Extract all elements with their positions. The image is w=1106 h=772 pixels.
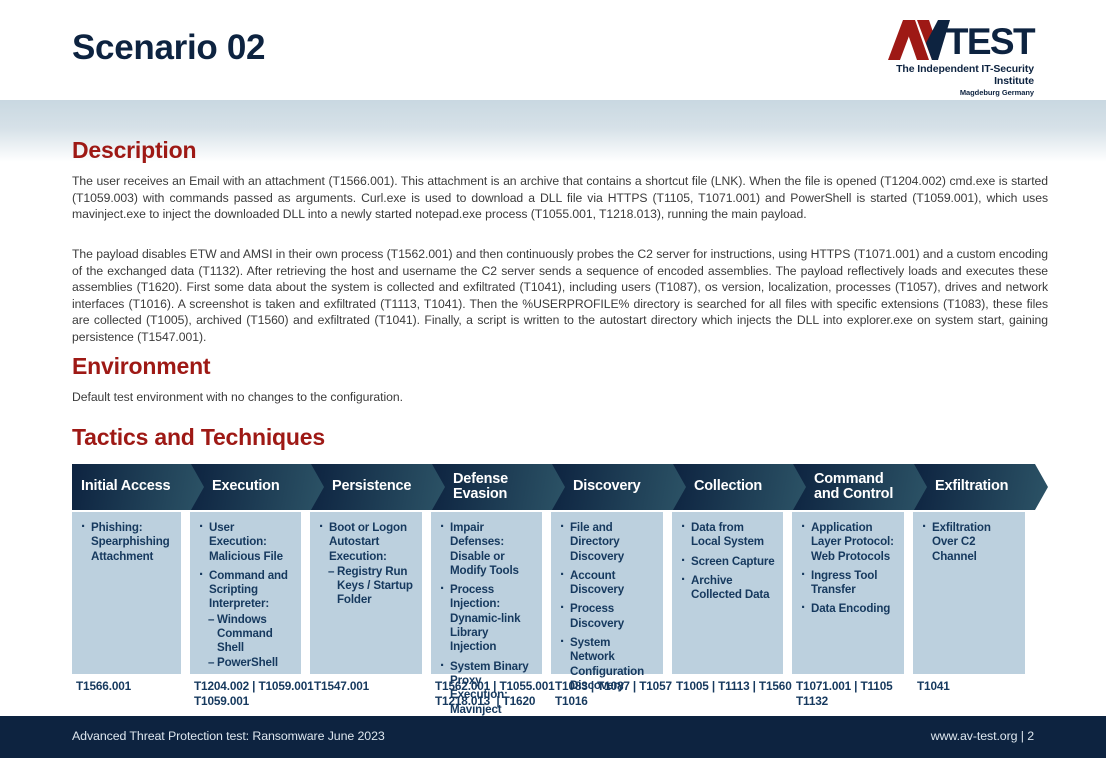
technique-id-line: T1016 (555, 694, 680, 709)
technique-ids-initial-access: T1566.001 (72, 679, 198, 694)
technique-list: Data from Local SystemScreen CaptureArch… (680, 521, 775, 602)
technique-item: Phishing: Spearphishing Attachment (80, 521, 173, 564)
technique-id-line: T1566.001 (76, 679, 198, 694)
environment-heading: Environment (72, 353, 210, 380)
av-mark-icon (888, 20, 952, 60)
technique-item: Archive Collected Data (680, 574, 775, 603)
tactics-ids-row: T1566.001T1204.002 | T1059.001T1059.001T… (72, 679, 1034, 713)
technique-item: Data from Local System (680, 521, 775, 550)
technique-ids-collection: T1005 | T1113 | T1560 (672, 679, 800, 694)
tactic-cell-defense-evasion: Impair Defenses: Disable or Modify Tools… (431, 512, 542, 674)
description-paragraph-2: The payload disables ETW and AMSI in the… (72, 246, 1048, 346)
page-title: Scenario 02 (72, 28, 265, 68)
description-paragraph-1: The user receives an Email with an attac… (72, 173, 1048, 223)
description-heading: Description (72, 137, 196, 164)
footer-test-name: Advanced Threat Protection test: Ransomw… (72, 729, 385, 743)
technique-id-line: T1041 (917, 679, 1042, 694)
tactic-header-exfiltration[interactable]: Exfiltration (913, 464, 1048, 510)
tactics-cells-row: Phishing: Spearphishing AttachmentUser E… (72, 512, 1034, 674)
technique-list: Exfiltration Over C2 Channel (921, 521, 1017, 564)
technique-ids-discovery: T1083 | T1087 | T1057T1016 (551, 679, 680, 708)
sub-technique-item: PowerShell (209, 656, 293, 670)
technique-id-line: T1132 (796, 694, 921, 709)
logo-location: Magdeburg Germany (866, 88, 1034, 97)
technique-ids-execution: T1204.002 | T1059.001T1059.001 (190, 679, 318, 708)
logo-wordmark: TEST (866, 20, 1034, 60)
technique-item: Boot or Logon Autostart Execution:Regist… (318, 521, 414, 608)
technique-item: Process Injection: Dynamic-link Library … (439, 583, 534, 654)
tactic-header-label: Defense Evasion (453, 472, 549, 503)
technique-ids-persistence: T1547.001 (310, 679, 439, 694)
tactic-header-label: Persistence (332, 479, 411, 495)
technique-item: Application Layer Protocol: Web Protocol… (800, 521, 896, 564)
footer-bar: Advanced Threat Protection test: Ransomw… (0, 716, 1106, 758)
technique-item: Exfiltration Over C2 Channel (921, 521, 1017, 564)
footer-url-page: www.av-test.org | 2 (931, 729, 1034, 743)
sub-technique-item: Windows Command Shell (209, 613, 293, 656)
tactic-header-execution[interactable]: Execution (190, 464, 324, 510)
technique-item: Account Discovery (559, 569, 655, 598)
tactic-header-command-and-control[interactable]: Command and Control (792, 464, 927, 510)
tactic-header-persistence[interactable]: Persistence (310, 464, 445, 510)
technique-item: User Execution: Malicious File (198, 521, 293, 564)
technique-item: Data Encoding (800, 602, 896, 616)
tactic-cell-collection: Data from Local SystemScreen CaptureArch… (672, 512, 783, 674)
technique-list: User Execution: Malicious FileCommand an… (198, 521, 293, 670)
tactic-header-label: Discovery (573, 479, 641, 495)
logo-tagline: The Independent IT-Security Institute (866, 63, 1034, 87)
environment-paragraph: Default test environment with no changes… (72, 389, 1048, 406)
tactic-cell-discovery: File and Directory DiscoveryAccount Disc… (551, 512, 663, 674)
technique-id-line: T1547.001 (314, 679, 439, 694)
technique-ids-defense-evasion: T1562.001 | T1055.001T1218.013 | T1620 (431, 679, 559, 708)
technique-item: Ingress Tool Transfer (800, 569, 896, 598)
technique-list: Application Layer Protocol: Web Protocol… (800, 521, 896, 617)
tactic-cell-exfiltration: Exfiltration Over C2 Channel (913, 512, 1025, 674)
technique-list: Boot or Logon Autostart Execution:Regist… (318, 521, 414, 608)
technique-id-line: T1562.001 | T1055.001 (435, 679, 559, 694)
technique-id-line: T1059.001 (194, 694, 318, 709)
technique-item: Process Discovery (559, 602, 655, 631)
av-test-logo: TEST The Independent IT-Security Institu… (866, 20, 1034, 86)
technique-id-line: T1083 | T1087 | T1057 (555, 679, 680, 694)
technique-id-line: T1204.002 | T1059.001 (194, 679, 318, 694)
technique-id-line: T1218.013 | T1620 (435, 694, 559, 709)
tactic-cell-command-and-control: Application Layer Protocol: Web Protocol… (792, 512, 904, 674)
technique-item: Impair Defenses: Disable or Modify Tools (439, 521, 534, 578)
tactic-header-defense-evasion[interactable]: Defense Evasion (431, 464, 565, 510)
tactics-heading: Tactics and Techniques (72, 424, 325, 451)
tactic-cell-persistence: Boot or Logon Autostart Execution:Regist… (310, 512, 422, 674)
tactic-header-label: Initial Access (81, 479, 170, 495)
sub-technique-item: Registry Run Keys / Startup Folder (329, 565, 414, 608)
tactic-header-label: Execution (212, 479, 280, 495)
tactic-header-label: Collection (694, 479, 762, 495)
tactic-header-label: Exfiltration (935, 479, 1008, 495)
tactic-header-discovery[interactable]: Discovery (551, 464, 686, 510)
logo-test-text: TEST (946, 24, 1034, 60)
technique-list: Phishing: Spearphishing Attachment (80, 521, 173, 564)
technique-ids-exfiltration: T1041 (913, 679, 1042, 694)
tactics-table: Initial AccessExecutionPersistenceDefens… (72, 464, 1034, 713)
technique-id-line: T1005 | T1113 | T1560 (676, 679, 800, 694)
tactic-header-collection[interactable]: Collection (672, 464, 806, 510)
technique-list: File and Directory DiscoveryAccount Disc… (559, 521, 655, 693)
tactics-header-row: Initial AccessExecutionPersistenceDefens… (72, 464, 1034, 510)
sub-technique-list: Registry Run Keys / Startup Folder (329, 565, 414, 608)
technique-item: File and Directory Discovery (559, 521, 655, 564)
technique-ids-command-and-control: T1071.001 | T1105T1132 (792, 679, 921, 708)
tactic-header-initial-access[interactable]: Initial Access (72, 464, 204, 510)
technique-item: Screen Capture (680, 555, 775, 569)
tactic-cell-execution: User Execution: Malicious FileCommand an… (190, 512, 301, 674)
slide-page: Scenario 02 TEST The Independent IT-Secu… (0, 0, 1106, 772)
technique-id-line: T1071.001 | T1105 (796, 679, 921, 694)
tactic-cell-initial-access: Phishing: Spearphishing Attachment (72, 512, 181, 674)
technique-item: Command and Scripting Interpreter:Window… (198, 569, 293, 670)
tactic-header-label: Command and Control (814, 472, 911, 503)
sub-technique-list: Windows Command ShellPowerShell (209, 613, 293, 670)
